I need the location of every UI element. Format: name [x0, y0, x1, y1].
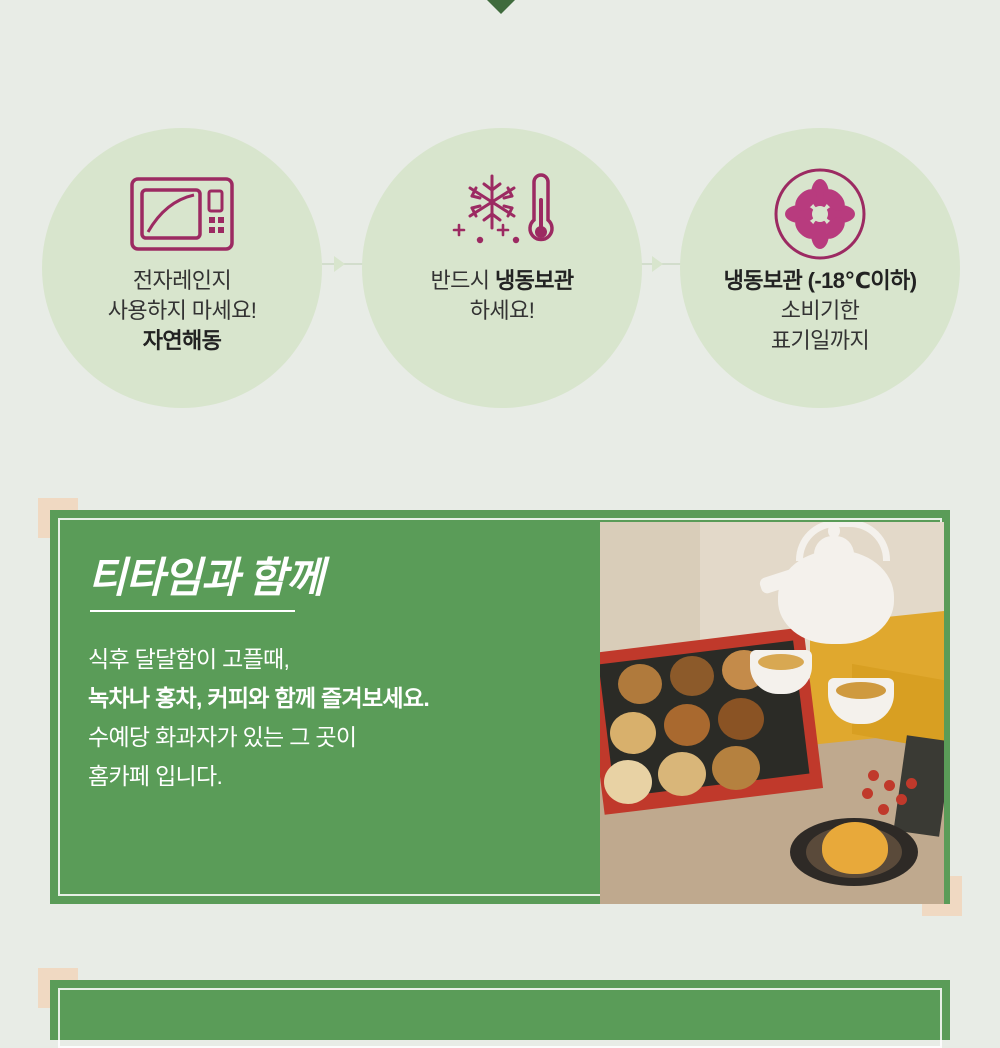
tea-card-divider — [90, 610, 295, 612]
photo-sweet — [670, 656, 714, 696]
circle-arrow-1-icon — [334, 256, 345, 272]
instruction-circle-freeze: 반드시 냉동보관 하세요! — [362, 128, 642, 408]
freeze-line-1-bold: 냉동보관 — [495, 268, 574, 293]
photo-berry — [906, 778, 917, 789]
photo-sweet — [658, 752, 706, 796]
microwave-line-1: 전자레인지 — [108, 266, 257, 296]
instruction-text-expiry: 냉동보관 (-18℃이하) 소비기한 표기일까지 — [724, 266, 917, 356]
expiry-line-3: 표기일까지 — [724, 326, 917, 356]
photo-berry — [896, 794, 907, 805]
tea-time-photo — [600, 522, 944, 904]
photo-berry — [878, 804, 889, 815]
tea-body-line-3: 수예당 화과자가 있는 그 곳이 — [88, 718, 558, 757]
photo-yakgwa — [822, 822, 888, 874]
next-card-inner-border — [58, 988, 942, 1048]
photo-berry — [862, 788, 873, 799]
microwave-line-3: 자연해동 — [143, 328, 222, 353]
snowflake-thermometer-icon — [446, 166, 558, 262]
photo-sweet — [664, 704, 710, 746]
photo-teacup-1-tea — [758, 654, 804, 670]
instruction-text-freeze: 반드시 냉동보관 하세요! — [431, 266, 574, 326]
photo-teapot-knob — [828, 524, 840, 538]
photo-teacup-2-tea — [836, 682, 886, 699]
photo-berry — [868, 770, 879, 781]
top-banner: 맛있는 화과자 이렇게 즐겨보세요! — [0, 0, 1000, 52]
expiry-line-1: 냉동보관 (-18℃이하) — [724, 268, 917, 293]
tea-body-line-2: 녹차나 홍차, 커피와 함께 즐겨보세요. — [88, 685, 429, 711]
circle-arrow-2-icon — [652, 256, 663, 272]
tea-body-line-4: 홈카페 입니다. — [88, 757, 558, 796]
microwave-line-2: 사용하지 마세요! — [108, 296, 257, 326]
tea-card-body: 식후 달달함이 고플때, 녹차나 홍차, 커피와 함께 즐겨보세요. 수예당 화… — [88, 640, 558, 796]
photo-sweet — [604, 760, 652, 804]
freeze-line-2: 하세요! — [431, 296, 574, 326]
banner-pointer — [479, 0, 523, 14]
photo-teapot — [778, 550, 894, 644]
microwave-icon — [130, 166, 234, 262]
freeze-line-1-prefix: 반드시 — [431, 268, 495, 293]
photo-berry — [884, 780, 895, 791]
next-section-card — [38, 968, 962, 1028]
photo-sweet — [712, 746, 760, 790]
instruction-circle-expiry: 냉동보관 (-18℃이하) 소비기한 표기일까지 — [680, 128, 960, 408]
expiry-line-2: 소비기한 — [724, 296, 917, 326]
tea-card-title: 티타임과 함께 — [88, 544, 323, 605]
photo-sweet — [618, 664, 662, 704]
instruction-circle-microwave: 전자레인지 사용하지 마세요! 자연해동 — [42, 128, 322, 408]
storage-instructions: 전자레인지 사용하지 마세요! 자연해동 — [0, 128, 1000, 408]
photo-sweet — [610, 712, 656, 754]
photo-sweet — [718, 698, 764, 740]
tea-body-line-1: 식후 달달함이 고플때, — [88, 640, 558, 679]
flower-icon — [772, 166, 868, 262]
instruction-text-microwave: 전자레인지 사용하지 마세요! 자연해동 — [108, 266, 257, 356]
